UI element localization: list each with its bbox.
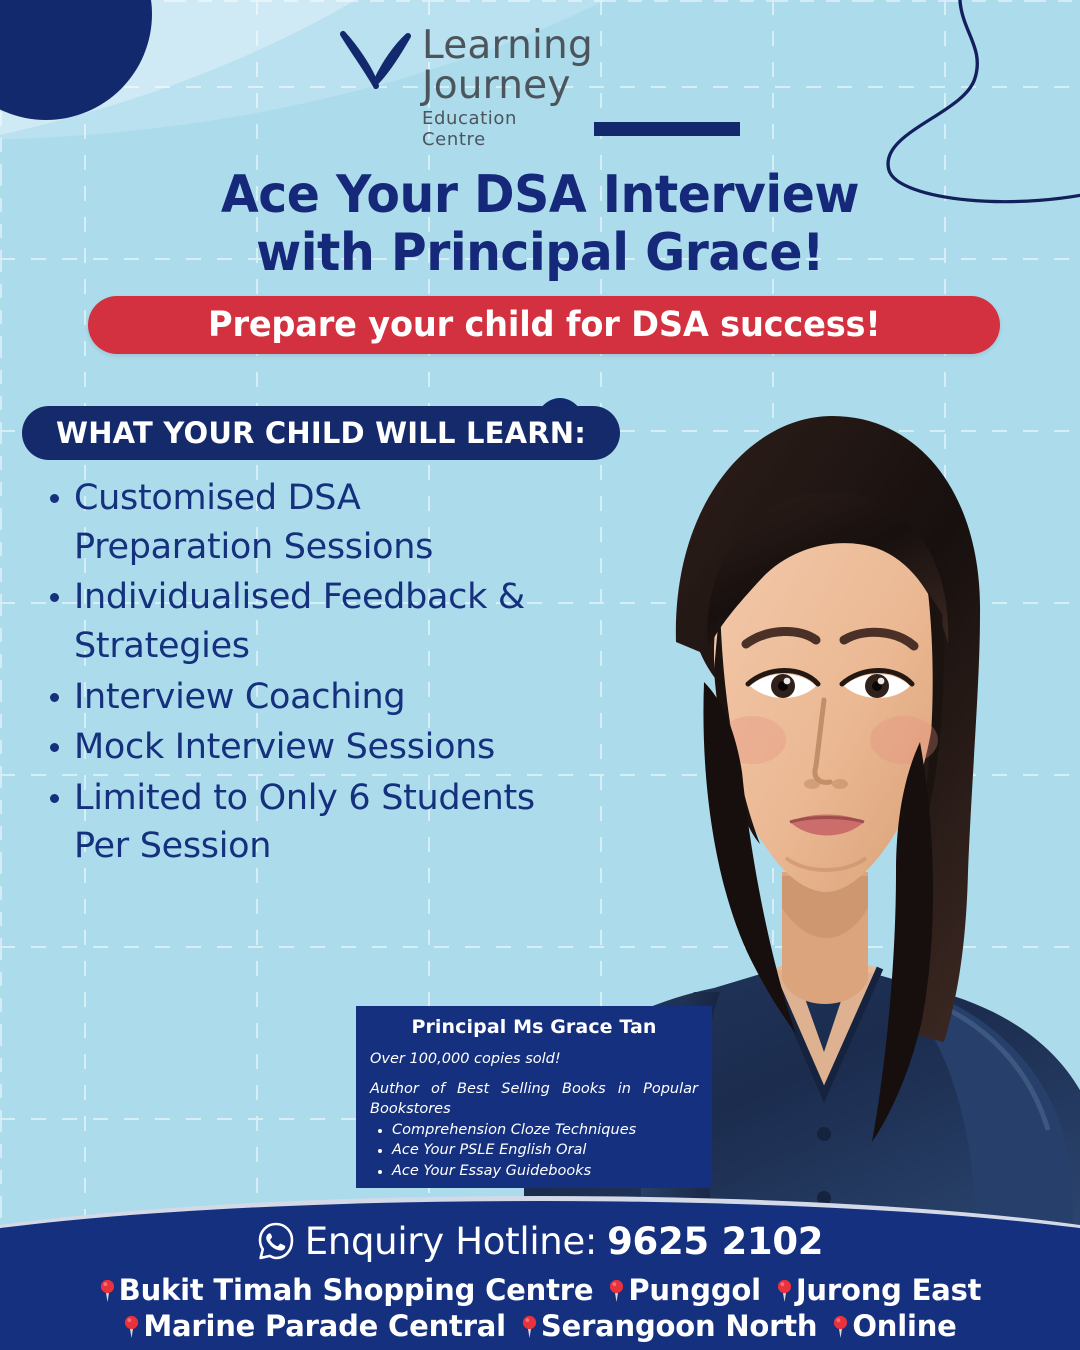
hotline-label: Enquiry Hotline: [305,1220,597,1263]
location-label: Punggol [628,1273,761,1309]
learn-banner-label: WHAT YOUR CHILD WILL LEARN: [56,416,586,450]
headline-line-2: with Principal Grace! [32,224,1047,282]
location-item[interactable]: Serangoon North [521,1309,817,1345]
footer-contact-bar: Enquiry Hotline: 9625 2102 Bukit Timah S… [0,1196,1080,1350]
location-label: Bukit Timah Shopping Centre [119,1273,594,1309]
location-item[interactable]: Punggol [608,1273,761,1309]
headline: Ace Your DSA Interview with Principal Gr… [32,166,1047,282]
locations-block: Bukit Timah Shopping Centre Punggol [0,1273,1080,1345]
list-item: Comprehension Cloze Techniques [392,1120,698,1141]
map-pin-icon [608,1279,625,1303]
map-pin-icon [521,1315,538,1339]
logo-title: Learning Journey [422,26,740,106]
whatsapp-icon[interactable] [257,1221,295,1263]
headline-line-1: Ace Your DSA Interview [32,166,1047,224]
location-item[interactable]: Bukit Timah Shopping Centre [99,1273,594,1309]
location-item[interactable]: Marine Parade Central [123,1309,506,1345]
locations-row-1: Bukit Timah Shopping Centre Punggol [0,1273,1080,1309]
location-label: Jurong East [796,1273,981,1309]
locations-row-2: Marine Parade Central Serangoon North [0,1309,1080,1345]
location-item[interactable]: Online [832,1309,956,1345]
credentials-copies-sold: Over 100,000 copies sold! [370,1050,698,1069]
list-item: Mock Interview Sessions [40,723,550,772]
map-pin-icon [123,1315,140,1339]
location-label: Online [852,1309,956,1345]
location-item[interactable]: Jurong East [776,1273,981,1309]
list-item: Ace Your Essay Guidebooks [392,1161,698,1182]
list-item: Limited to Only 6 Students Per Session [40,774,550,871]
map-pin-icon [776,1279,793,1303]
list-item: Individualised Feedback & Strategies [40,573,550,670]
list-item: Interview Coaching [40,673,550,722]
learn-list: Customised DSA Preparation Sessions Indi… [40,474,550,873]
brand-logo: Learning Journey Education Centre [340,26,740,108]
credentials-author-line: Author of Best Selling Books in Popular … [370,1080,698,1118]
credentials-box: Principal Ms Grace Tan Over 100,000 copi… [356,1006,712,1188]
credentials-title: Principal Ms Grace Tan [370,1016,698,1038]
poster-canvas: Learning Journey Education Centre Ace Yo… [0,0,1080,1350]
checkmark-leaf-logo-icon [340,30,412,92]
logo-accent-bar [594,122,740,136]
credentials-book-list: Comprehension Cloze Techniques Ace Your … [392,1120,698,1182]
hotline-number[interactable]: 9625 2102 [607,1220,823,1263]
subheadline-text: Prepare your child for DSA success! [208,305,880,345]
location-label: Serangoon North [541,1309,817,1345]
list-item: Ace Your PSLE English Oral [392,1140,698,1161]
map-pin-icon [99,1279,116,1303]
subheadline-banner: Prepare your child for DSA success! [88,296,1000,354]
list-item: Customised DSA Preparation Sessions [40,474,550,571]
location-label: Marine Parade Central [143,1309,506,1345]
logo-subtitle: Education Centre [422,108,582,150]
map-pin-icon [832,1315,849,1339]
hotline-row: Enquiry Hotline: 9625 2102 [0,1219,1080,1263]
